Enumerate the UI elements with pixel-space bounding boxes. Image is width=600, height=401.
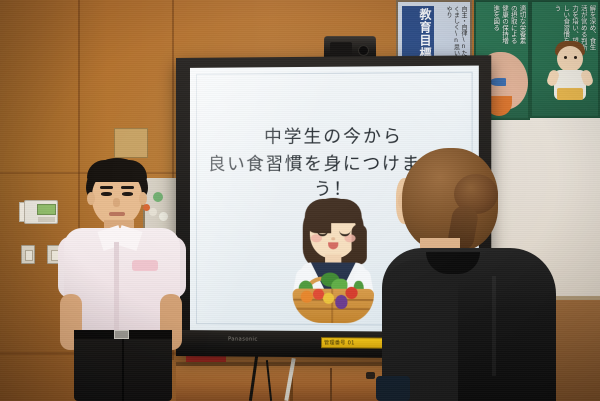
slide-title-line1: 中学生の今から <box>190 123 479 149</box>
light-switch-left[interactable] <box>21 245 35 264</box>
person-teacher-observer <box>396 148 600 401</box>
classroom-presentation-photo: 教育目標 自主・自律\nたくましく\n思いやり 適切な栄養素の摂取による健康の保… <box>0 0 600 401</box>
shirt-placket <box>114 242 119 334</box>
sleeve-seam <box>492 276 496 376</box>
basket-weave <box>293 308 374 310</box>
cardboard-box <box>114 128 148 158</box>
fish-icon <box>490 78 506 86</box>
camera-lens-icon <box>358 45 369 56</box>
head <box>557 46 583 72</box>
rocker[interactable] <box>25 250 33 261</box>
vegetable-eggplant <box>335 295 347 309</box>
eye-left <box>101 192 112 196</box>
person-student-presenter <box>56 158 188 401</box>
eye-left <box>564 56 567 59</box>
asset-sticker: 管理番号 01 <box>321 337 386 349</box>
eyebrow-right <box>121 186 134 189</box>
power-cable <box>330 368 332 401</box>
slide-illustration-woman-with-basket <box>276 196 390 326</box>
poster-title: 教育目標 <box>402 6 434 60</box>
eyebrow-left <box>100 186 113 189</box>
poster-subtext: 自主・自律\nたくましく\n思いやり <box>431 6 467 60</box>
vegetable-carrot <box>301 291 313 303</box>
display-brand-label: Panasonic <box>228 336 258 342</box>
air-conditioner-controller[interactable] <box>24 200 58 224</box>
vegetable-corn <box>323 293 334 304</box>
eye-right <box>122 192 133 196</box>
poster-child-illustration <box>548 40 592 112</box>
ear-left <box>87 192 95 205</box>
lcd-screen <box>37 204 56 215</box>
meal-tray <box>557 88 583 100</box>
asset-sticker-text: 管理番号 01 <box>324 339 355 346</box>
bag-strap <box>376 376 410 401</box>
belt-buckle <box>114 330 129 339</box>
nose <box>331 237 335 240</box>
controller-buttons[interactable] <box>38 217 55 222</box>
poster-text: 適切な栄養素の摂取による健康の保持増進を図る <box>474 5 526 49</box>
trouser-seam <box>122 339 124 401</box>
ponytail <box>352 224 367 264</box>
shirt-logo <box>132 260 158 271</box>
ear-right <box>139 192 147 205</box>
eye-right <box>574 56 577 59</box>
hair-fringe <box>87 160 147 182</box>
vegetable-tomato <box>345 287 357 299</box>
speaker-grill <box>330 42 352 56</box>
mouth <box>109 212 125 216</box>
cabinet-handle[interactable] <box>366 372 375 379</box>
poster-kyoiku-mokuhyou: 教育目標 自主・自律\nたくましく\n思いやり <box>396 0 472 62</box>
nose <box>113 198 120 207</box>
